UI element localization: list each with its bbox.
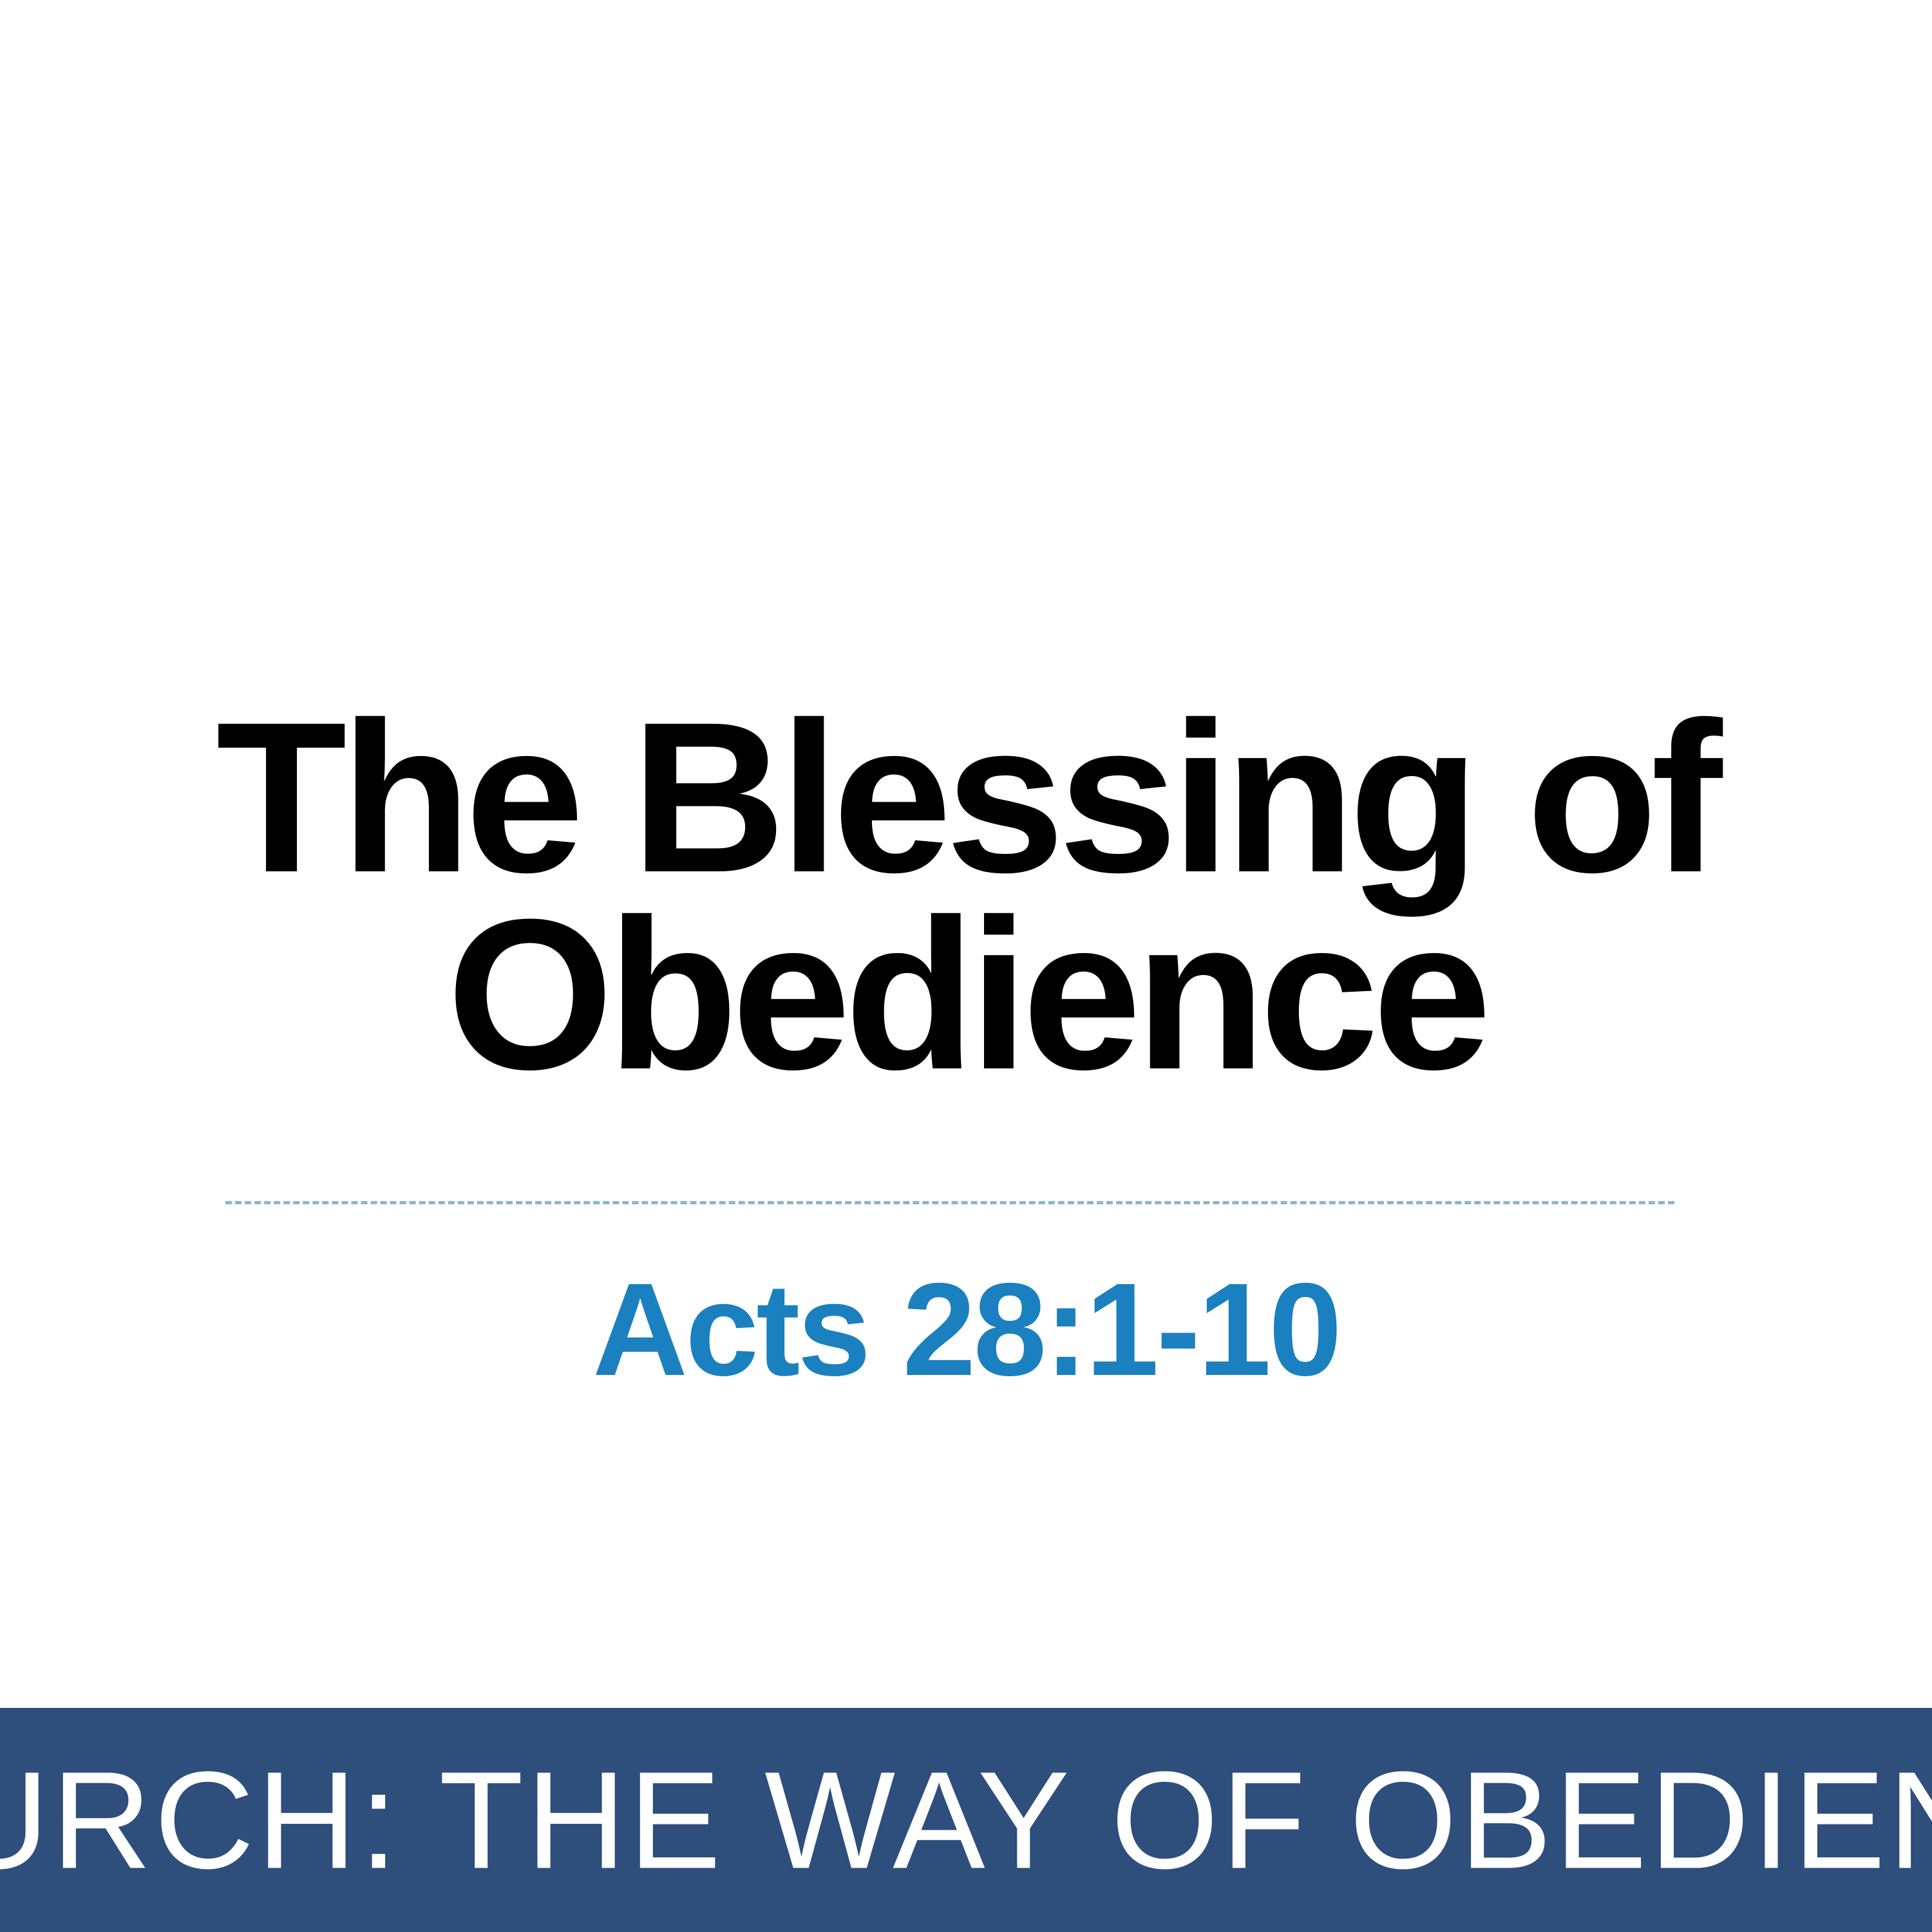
- series-banner: CHURCH: THE WAY OF OBEDIENCE: [0, 1708, 1932, 1932]
- presentation-slide: The Blessing of Obedience Acts 28:1-10 C…: [0, 0, 1932, 1932]
- title-line-2: Obedience: [0, 896, 1932, 1093]
- divider-rule-icon: [225, 1201, 1674, 1204]
- title-line-1: The Blessing of: [0, 699, 1932, 896]
- dashed-divider: [225, 1195, 1674, 1211]
- series-banner-label: CHURCH: THE WAY OF OBEDIENCE: [0, 1751, 1932, 1889]
- scripture-reference: Acts 28:1-10: [592, 1256, 1340, 1403]
- slide-title: The Blessing of Obedience: [0, 699, 1932, 1094]
- slide-subtitle: Acts 28:1-10: [0, 1264, 1932, 1396]
